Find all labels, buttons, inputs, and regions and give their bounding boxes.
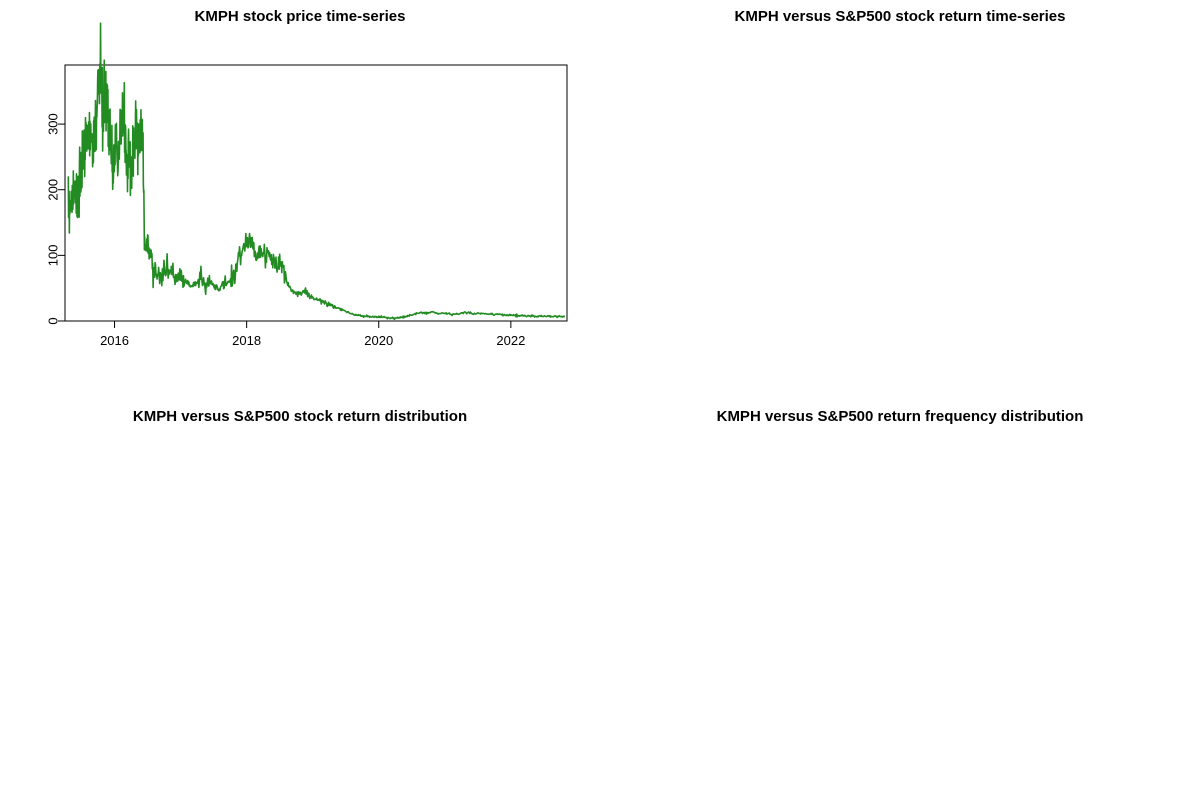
x-tick-label: 2020 bbox=[364, 333, 393, 348]
panel3-plot: -0.8-0.6-0.4-0.20.00.20.40102030405060 K… bbox=[0, 400, 600, 800]
figure-grid: KMPH stock price time-series 20162018202… bbox=[0, 0, 1200, 800]
panel-kmph-gspc-return-frequency: KMPH versus S&P500 return frequency dist… bbox=[600, 400, 1200, 800]
x-tick-label: 2018 bbox=[232, 333, 261, 348]
x-tick-label: 2022 bbox=[496, 333, 525, 348]
kmph-price-line bbox=[68, 23, 565, 319]
plot-box bbox=[65, 65, 567, 321]
y-tick-label: 0 bbox=[46, 317, 61, 324]
panel-kmph-gspc-return-timeseries: KMPH versus S&P500 stock return time-ser… bbox=[600, 0, 1200, 400]
panel-kmph-gspc-return-density: KMPH versus S&P500 stock return distribu… bbox=[0, 400, 600, 800]
panel2-plot: 2016201820202022-0.8-0.6-0.4-0.20.00.20.… bbox=[600, 0, 1200, 400]
y-tick-label: 100 bbox=[46, 245, 61, 267]
panel4-plot: 050010001500[-0.819,-0.779)[-0.537,-0.49… bbox=[600, 400, 1200, 800]
y-tick-label: 300 bbox=[46, 113, 61, 135]
panel1-plot: 20162018202020220100200300 bbox=[0, 0, 600, 400]
panel-kmph-price-timeseries: KMPH stock price time-series 20162018202… bbox=[0, 0, 600, 400]
x-tick-label: 2016 bbox=[100, 333, 129, 348]
y-tick-label: 200 bbox=[46, 179, 61, 201]
